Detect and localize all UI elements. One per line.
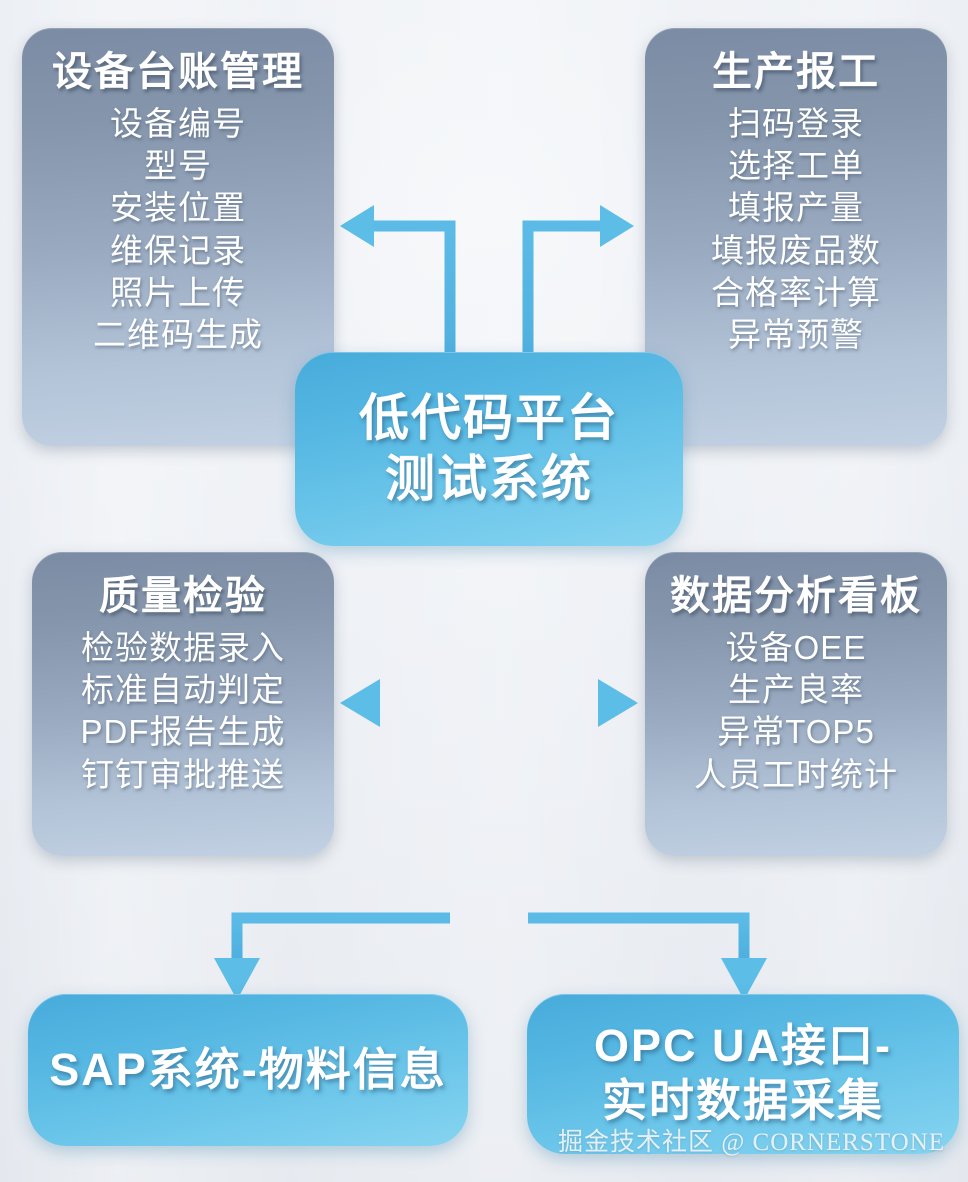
connector-center-to-equipment [340, 205, 450, 356]
module-item: 合格率计算 [711, 272, 881, 314]
connector-to-sap [214, 918, 450, 1000]
integration-label-opcua-line1: OPC UA接口- [594, 1019, 892, 1074]
module-item: 照片上传 [110, 272, 246, 314]
module-item: 设备OEE [726, 627, 867, 669]
center-node-line1: 低代码平台 [359, 388, 619, 449]
module-item: 异常TOP5 [717, 711, 875, 753]
diagram-canvas: 设备台账管理 设备编号 型号 安装位置 维保记录 照片上传 二维码生成 生产报工… [0, 0, 968, 1182]
module-title: 设备台账管理 [52, 50, 304, 95]
module-item: 人员工时统计 [694, 754, 898, 796]
module-item: 选择工单 [728, 145, 864, 187]
module-item: 填报废品数 [711, 230, 881, 272]
module-item: PDF报告生成 [81, 711, 286, 753]
connector-to-opcua [528, 918, 767, 1000]
module-item: 生产良率 [728, 669, 864, 711]
center-node-platform[interactable]: 低代码平台 测试系统 [295, 352, 683, 546]
integration-node-sap[interactable]: SAP系统-物料信息 [28, 994, 468, 1146]
module-item: 标准自动判定 [81, 669, 285, 711]
center-node-line2: 测试系统 [385, 449, 593, 510]
integration-label-sap: SAP系统-物料信息 [49, 1043, 447, 1098]
module-item: 扫码登录 [728, 103, 864, 145]
module-item: 设备编号 [110, 103, 246, 145]
watermark-text: 掘金技术社区 @ CORNERSTONE [558, 1122, 945, 1158]
module-item: 维保记录 [110, 230, 246, 272]
module-title: 数据分析看板 [670, 574, 922, 619]
module-card-analytics[interactable]: 数据分析看板 设备OEE 生产良率 异常TOP5 人员工时统计 [645, 552, 947, 856]
module-card-quality[interactable]: 质量检验 检验数据录入 标准自动判定 PDF报告生成 钉钉审批推送 [32, 552, 334, 856]
module-item: 型号 [144, 145, 212, 187]
module-title: 质量检验 [99, 574, 267, 619]
integration-label-opcua-line2: 实时数据采集 [602, 1074, 884, 1129]
module-item: 二维码生成 [93, 314, 263, 356]
module-item: 填报产量 [728, 187, 864, 229]
connector-center-to-production [528, 205, 634, 356]
module-item: 安装位置 [110, 187, 246, 229]
module-item: 检验数据录入 [81, 627, 285, 669]
connector-center-to-quality [340, 545, 450, 918]
module-card-equipment[interactable]: 设备台账管理 设备编号 型号 安装位置 维保记录 照片上传 二维码生成 [22, 28, 334, 446]
module-title: 生产报工 [712, 50, 880, 95]
module-item: 异常预警 [728, 314, 864, 356]
module-card-production[interactable]: 生产报工 扫码登录 选择工单 填报产量 填报废品数 合格率计算 异常预警 [645, 28, 947, 446]
connector-center-to-analytics [528, 545, 638, 918]
module-item: 钉钉审批推送 [81, 754, 285, 796]
